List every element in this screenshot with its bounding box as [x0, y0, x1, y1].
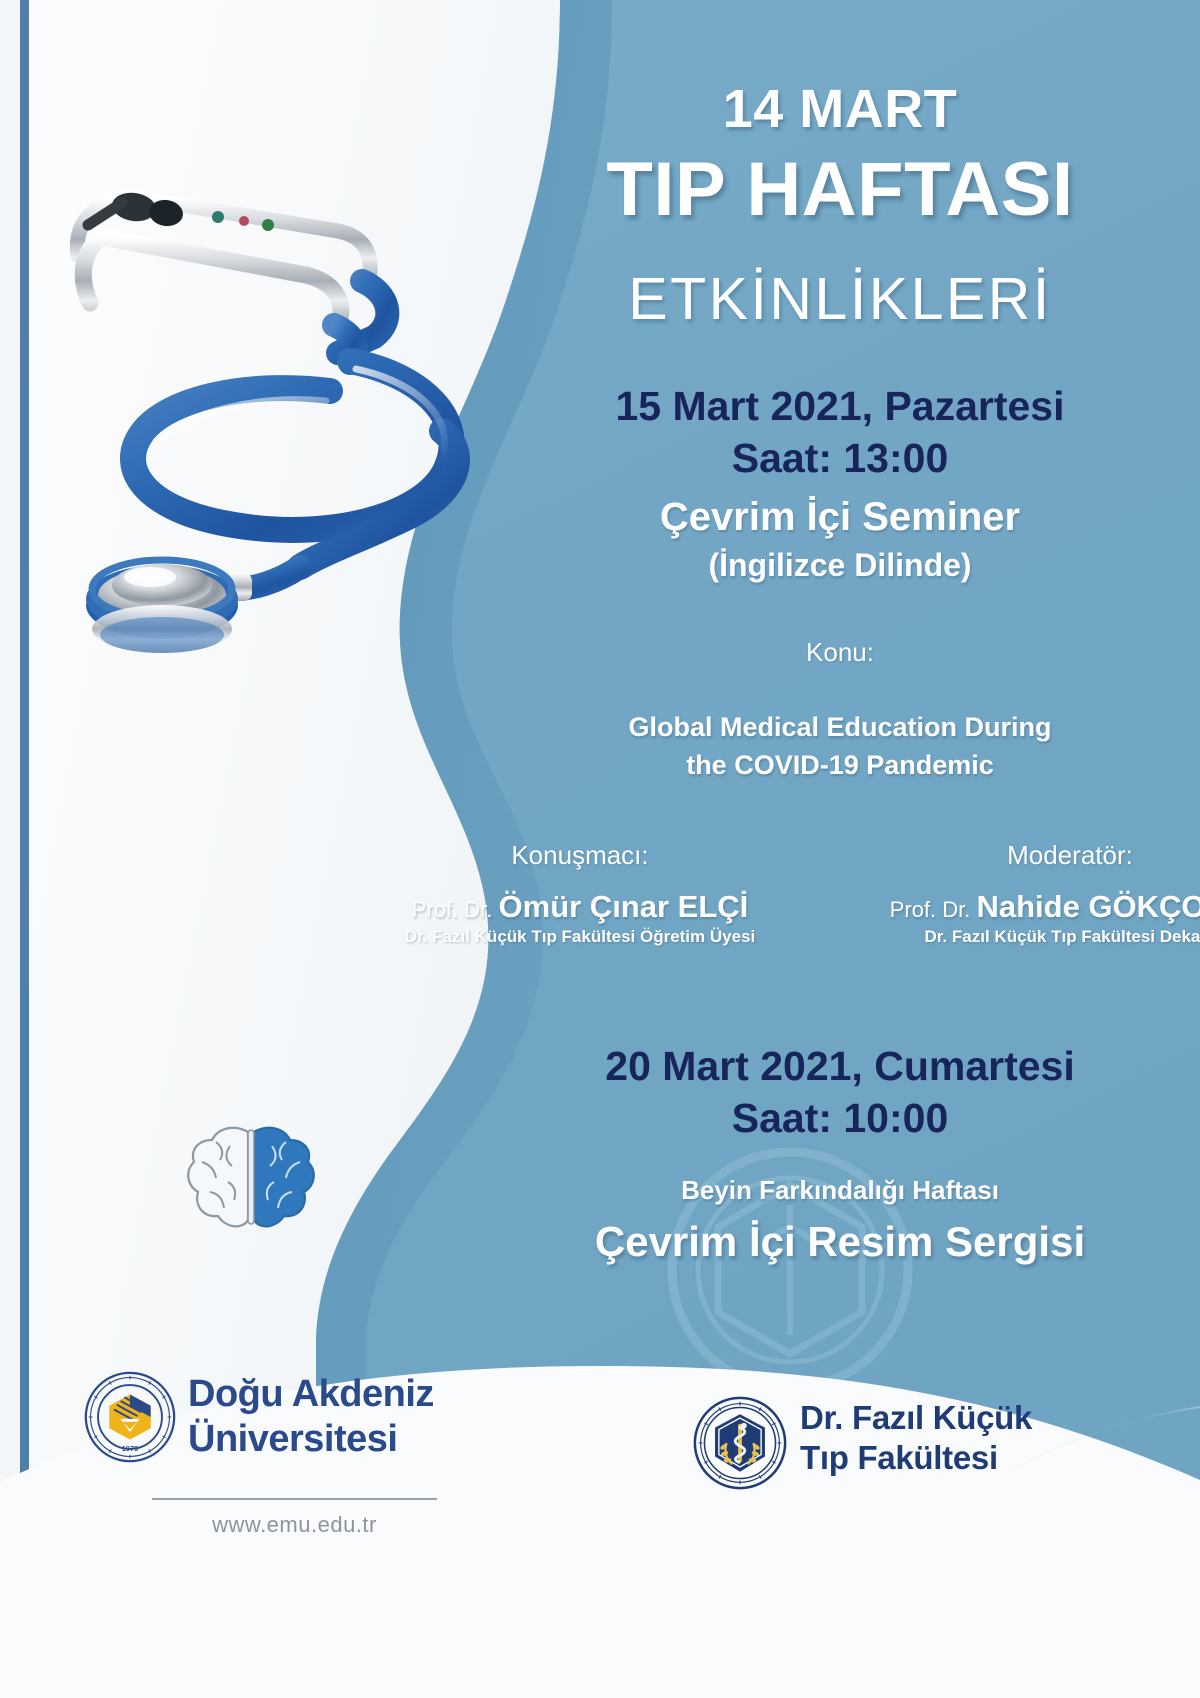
- topic-label: Konu:: [520, 637, 1160, 668]
- event2-date: 20 Mart 2021, Cumartesi: [520, 1040, 1160, 1092]
- event1-language-note: (İngilizce Dilinde): [520, 547, 1160, 584]
- emu-website-url[interactable]: www.emu.edu.tr: [152, 1512, 437, 1538]
- header-line-3: ETKİNLİKLERİ: [520, 265, 1160, 333]
- moderator-block: Moderatör: Prof. Dr. Nahide GÖKÇORA Dr. …: [850, 840, 1200, 947]
- emu-name-line-2: Üniversitesi: [188, 1417, 434, 1462]
- footer-divider: [152, 1498, 437, 1500]
- poster-canvas: 14 MART TIP HAFTASI ETKİNLİKLERİ 15 Mart…: [0, 0, 1200, 1698]
- event2-subtitle: Beyin Farkındalığı Haftası: [520, 1175, 1160, 1206]
- moderator-name: Prof. Dr. Nahide GÖKÇORA: [850, 889, 1200, 925]
- poster-content: 14 MART TIP HAFTASI ETKİNLİKLERİ 15 Mart…: [520, 0, 1160, 1400]
- emu-wordmark: Doğu Akdeniz Üniversitesi: [188, 1372, 434, 1462]
- stethoscope-icon: [38, 185, 478, 655]
- event2-time: Saat: 10:00: [520, 1092, 1160, 1144]
- brain-icon: [186, 1122, 316, 1237]
- faculty-name-line-1: Dr. Fazıl Küçük: [800, 1398, 1032, 1438]
- speaker-name: Prof. Dr. Ömür Çınar ELÇİ: [360, 889, 800, 925]
- topic-line-1: Global Medical Education During: [520, 708, 1160, 746]
- speaker-block: Konuşmacı: Prof. Dr. Ömür Çınar ELÇİ Dr.…: [360, 840, 800, 947]
- speaker-fullname: Ömür Çınar ELÇİ: [499, 889, 749, 924]
- header-line-2: TIP HAFTASI: [520, 150, 1160, 230]
- event2-datetime: 20 Mart 2021, Cumartesi Saat: 10:00: [520, 1040, 1160, 1145]
- moderator-title: Prof. Dr.: [890, 897, 971, 922]
- topic-text: Global Medical Education During the COVI…: [520, 708, 1160, 785]
- speaker-role-label: Konuşmacı:: [360, 840, 800, 871]
- faculty-seal-icon: [692, 1395, 788, 1491]
- speaker-title: Prof. Dr.: [412, 897, 493, 922]
- event1-datetime: 15 Mart 2021, Pazartesi Saat: 13:00: [520, 380, 1160, 485]
- moderator-affiliation: Dr. Fazıl Küçük Tıp Fakültesi Dekanı: [850, 927, 1200, 947]
- event1-time: Saat: 13:00: [520, 432, 1160, 484]
- moderator-role-label: Moderatör:: [850, 840, 1200, 871]
- header-line-1: 14 MART: [520, 78, 1160, 140]
- speaker-affiliation: Dr. Fazıl Küçük Tıp Fakültesi Öğretim Üy…: [360, 927, 800, 947]
- left-edge-stripe: [20, 0, 29, 1698]
- event1-date: 15 Mart 2021, Pazartesi: [520, 380, 1160, 432]
- faculty-wordmark: Dr. Fazıl Küçük Tıp Fakültesi: [800, 1398, 1032, 1477]
- moderator-fullname: Nahide GÖKÇORA: [976, 889, 1200, 924]
- emu-seal-icon: 1979: [83, 1370, 177, 1464]
- event2-title: Çevrim İçi Resim Sergisi: [520, 1218, 1160, 1266]
- topic-line-2: the COVID-19 Pandemic: [520, 746, 1160, 784]
- event1-type: Çevrim İçi Seminer: [520, 495, 1160, 540]
- speakers-section: Konuşmacı: Prof. Dr. Ömür Çınar ELÇİ Dr.…: [360, 840, 1200, 970]
- faculty-name-line-2: Tıp Fakültesi: [800, 1438, 1032, 1478]
- emu-seal-year: 1979: [122, 1444, 139, 1453]
- emu-name-line-1: Doğu Akdeniz: [188, 1372, 434, 1417]
